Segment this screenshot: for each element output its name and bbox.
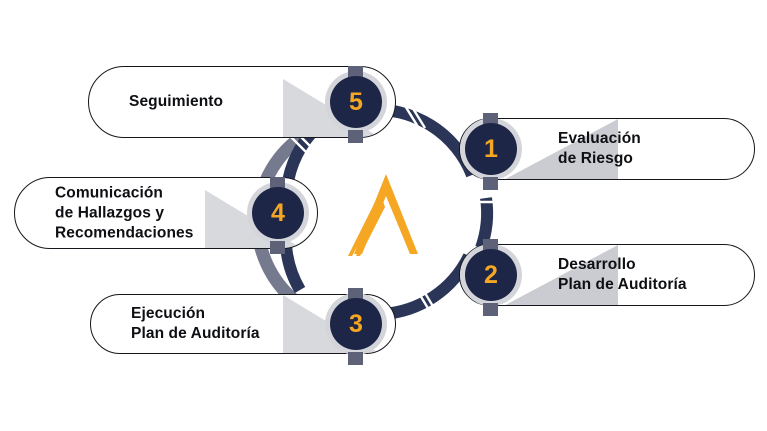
step-badge-1[interactable]: 1 — [465, 123, 517, 175]
badge-tab-4-bottom — [270, 241, 285, 254]
diagram-canvas: Seguimiento 5 Comunicación de Hallazgos … — [0, 0, 767, 431]
badge-tab-3-bottom — [348, 352, 363, 365]
step-badge-2[interactable]: 2 — [465, 249, 517, 301]
badge-tab-1-bottom — [483, 177, 498, 190]
step-badge-4[interactable]: 4 — [252, 187, 304, 239]
step-label-4: Comunicación de Hallazgos y Recomendacio… — [55, 183, 193, 242]
step-badge-3[interactable]: 3 — [330, 298, 382, 350]
step-label-1: Evaluación de Riesgo — [558, 129, 641, 169]
step-label-2: Desarrollo Plan de Auditoría — [558, 255, 687, 295]
step-badge-5[interactable]: 5 — [330, 76, 382, 128]
step-label-3: Ejecución Plan de Auditoría — [131, 304, 260, 344]
step-label-5: Seguimiento — [129, 92, 223, 112]
badge-tab-2-bottom — [483, 303, 498, 316]
badge-tab-5-bottom — [348, 130, 363, 143]
center-arrow-logo — [340, 168, 432, 260]
